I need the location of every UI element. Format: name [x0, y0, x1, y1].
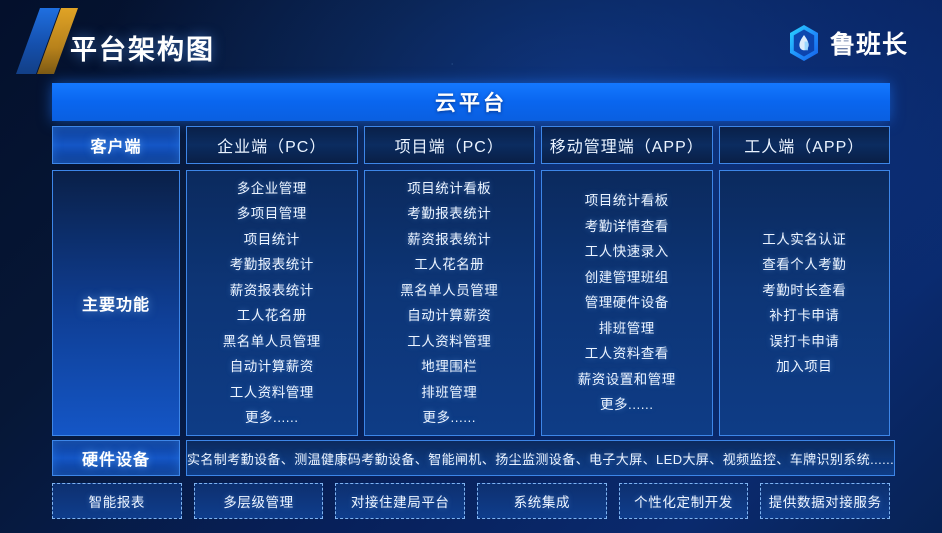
- list-item: 项目统计: [244, 227, 300, 253]
- list-item: 工人资料查看: [585, 341, 669, 367]
- list-item: 查看个人考勤: [762, 252, 846, 278]
- list-item: 黑名单人员管理: [400, 278, 498, 304]
- page-title: 平台架构图: [70, 28, 215, 67]
- list-item: 自动计算薪资: [407, 303, 491, 329]
- list-item: 项目统计看板: [407, 176, 491, 202]
- list-item: 补打卡申请: [769, 303, 839, 329]
- list-item: 工人花名册: [237, 303, 307, 329]
- list-item: 薪资设置和管理: [578, 367, 676, 393]
- list-item: 工人资料管理: [230, 380, 314, 406]
- cloud-platform-label: 云平台: [435, 87, 507, 117]
- list-item: 工人实名认证: [762, 227, 846, 253]
- matrix-header-row: 客户端 企业端（PC） 项目端（PC） 移动管理端（APP） 工人端（APP）: [52, 126, 890, 164]
- list-item: 考勤报表统计: [407, 201, 491, 227]
- feature-list-worker: 工人实名认证 查看个人考勤 考勤时长查看 补打卡申请 误打卡申请 加入项目: [719, 170, 891, 436]
- row-label-clients: 客户端: [52, 126, 180, 164]
- list-item-more: 更多......: [600, 392, 654, 418]
- list-item: 自动计算薪资: [230, 354, 314, 380]
- list-item: 薪资报表统计: [407, 227, 491, 253]
- list-item: 考勤报表统计: [230, 252, 314, 278]
- column-header-mobile-admin: 移动管理端（APP）: [541, 126, 713, 164]
- brand-logo: 鲁班长: [786, 24, 908, 62]
- list-item-more: 更多......: [245, 405, 299, 431]
- list-item: 排班管理: [421, 380, 477, 406]
- service-chips-row: 智能报表 多层级管理 对接住建局平台 系统集成 个性化定制开发 提供数据对接服务: [52, 483, 890, 519]
- feature-list-mobile-admin: 项目统计看板 考勤详情查看 工人快速录入 创建管理班组 管理硬件设备 排班管理 …: [541, 170, 713, 436]
- service-chip-data-service[interactable]: 提供数据对接服务: [760, 483, 890, 519]
- list-item: 薪资报表统计: [230, 278, 314, 304]
- list-item: 误打卡申请: [769, 329, 839, 355]
- row-label-hardware: 硬件设备: [52, 440, 180, 476]
- list-item: 黑名单人员管理: [223, 329, 321, 355]
- service-chip-multi-level[interactable]: 多层级管理: [194, 483, 324, 519]
- service-chip-gov-platform[interactable]: 对接住建局平台: [335, 483, 465, 519]
- list-item: 地理围栏: [421, 354, 477, 380]
- page-header: 平台架构图 鲁班长: [0, 0, 942, 80]
- service-chip-customization[interactable]: 个性化定制开发: [619, 483, 749, 519]
- column-header-project: 项目端（PC）: [364, 126, 536, 164]
- list-item: 管理硬件设备: [585, 290, 669, 316]
- feature-list-project: 项目统计看板 考勤报表统计 薪资报表统计 工人花名册 黑名单人员管理 自动计算薪…: [364, 170, 536, 436]
- hexagon-building-logo-icon: [786, 24, 822, 62]
- list-item: 创建管理班组: [585, 265, 669, 291]
- hardware-devices-list: 实名制考勤设备、测温健康码考勤设备、智能闸机、扬尘监测设备、电子大屏、LED大屏…: [186, 440, 895, 476]
- list-item: 工人资料管理: [407, 329, 491, 355]
- list-item: 多企业管理: [237, 176, 307, 202]
- list-item: 加入项目: [776, 354, 832, 380]
- list-item-more: 更多......: [422, 405, 476, 431]
- column-header-worker: 工人端（APP）: [719, 126, 891, 164]
- list-item: 考勤时长查看: [762, 278, 846, 304]
- list-item: 多项目管理: [237, 201, 307, 227]
- list-item: 工人快速录入: [585, 239, 669, 265]
- brand-name: 鲁班长: [830, 25, 908, 61]
- list-item: 工人花名册: [414, 252, 484, 278]
- list-item: 考勤详情查看: [585, 214, 669, 240]
- matrix-body-row: 主要功能 多企业管理 多项目管理 项目统计 考勤报表统计 薪资报表统计 工人花名…: [52, 170, 890, 436]
- feature-list-enterprise: 多企业管理 多项目管理 项目统计 考勤报表统计 薪资报表统计 工人花名册 黑名单…: [186, 170, 358, 436]
- service-chip-integration[interactable]: 系统集成: [477, 483, 607, 519]
- list-item: 排班管理: [599, 316, 655, 342]
- list-item: 项目统计看板: [585, 188, 669, 214]
- row-label-main-functions: 主要功能: [52, 170, 180, 436]
- service-chip-smart-report[interactable]: 智能报表: [52, 483, 182, 519]
- column-header-enterprise: 企业端（PC）: [186, 126, 358, 164]
- hardware-devices-row: 硬件设备 实名制考勤设备、测温健康码考勤设备、智能闸机、扬尘监测设备、电子大屏、…: [52, 440, 890, 476]
- cloud-platform-banner: 云平台: [52, 83, 890, 121]
- architecture-matrix: 客户端 企业端（PC） 项目端（PC） 移动管理端（APP） 工人端（APP） …: [52, 126, 890, 436]
